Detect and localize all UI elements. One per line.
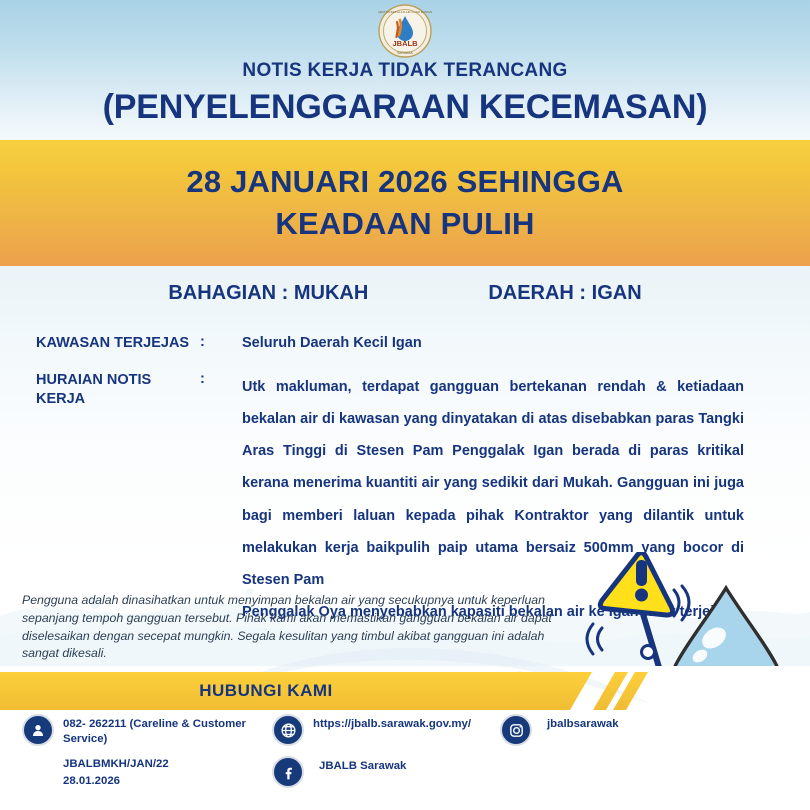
- daerah-label: DAERAH : IGAN: [488, 282, 641, 305]
- reference-block: JBALBMKH/JAN/22 28.01.2026: [63, 756, 272, 790]
- contact-group-phone: 082- 262211 (Careline & Customer Service…: [22, 714, 272, 790]
- svg-text:JBALB: JBALB: [392, 39, 418, 48]
- poster-footer: HUBUNGI KAMI 082- 262211 (Careline & Cus…: [0, 666, 810, 810]
- kawasan-label: KAWASAN TERJEJAS: [0, 334, 200, 353]
- globe-icon: [272, 714, 304, 746]
- notice-poster: JBALB JABATAN BEKALAN AIR LUAR BANDAR SA…: [0, 0, 810, 810]
- svg-text:JABATAN BEKALAN AIR LUAR BANDA: JABATAN BEKALAN AIR LUAR BANDAR: [378, 10, 432, 14]
- contact-phone-text: 082- 262211 (Careline & Customer Service…: [63, 714, 272, 746]
- huraian-colon: :: [200, 371, 242, 629]
- bahagian-label: BAHAGIAN : MUKAH: [168, 282, 368, 305]
- kawasan-value: Seluruh Daerah Kecil Igan: [242, 334, 762, 353]
- reference-code: JBALBMKH/JAN/22: [63, 756, 272, 773]
- hubungi-kami-label: HUBUNGI KAMI: [199, 681, 333, 701]
- hubungi-kami-banner: HUBUNGI KAMI: [0, 672, 592, 710]
- reference-date: 28.01.2026: [63, 773, 272, 790]
- date-line-1: 28 JANUARI 2026 SEHINGGA: [186, 161, 623, 203]
- contact-facebook-text: JBALB Sarawak: [313, 756, 406, 774]
- disclaimer-text: Pengguna adalah dinasihatkan untuk menyi…: [22, 592, 567, 663]
- contact-phone[interactable]: 082- 262211 (Careline & Customer Service…: [22, 714, 272, 746]
- contact-instagram[interactable]: jbalbsarawak: [500, 714, 720, 746]
- contact-facebook[interactable]: JBALB Sarawak: [272, 756, 502, 788]
- contact-group-instagram: jbalbsarawak: [500, 714, 720, 756]
- huraian-label: HURAIAN NOTIS KERJA: [0, 371, 200, 629]
- user-icon: [22, 714, 54, 746]
- division-row: BAHAGIAN : MUKAH DAERAH : IGAN: [0, 282, 810, 305]
- contact-instagram-text: jbalbsarawak: [541, 714, 619, 732]
- contact-group-web: https://jbalb.sarawak.gov.my/ JBALB Sara…: [272, 714, 502, 798]
- contact-website-text: https://jbalb.sarawak.gov.my/: [313, 714, 471, 732]
- date-band: 28 JANUARI 2026 SEHINGGA KEADAAN PULIH: [0, 140, 810, 266]
- instagram-icon: [500, 714, 532, 746]
- jbalb-logo: JBALB JABATAN BEKALAN AIR LUAR BANDAR SA…: [378, 4, 432, 58]
- contact-website[interactable]: https://jbalb.sarawak.gov.my/: [272, 714, 502, 746]
- notice-title: (PENYELENGGARAAN KECEMASAN): [0, 88, 810, 127]
- facebook-icon: [272, 756, 304, 788]
- date-line-2: KEADAAN PULIH: [275, 203, 534, 245]
- warning-triangle-icon: [600, 552, 678, 616]
- svg-text:SARAWAK: SARAWAK: [397, 51, 414, 55]
- kawasan-colon: :: [200, 334, 242, 353]
- poster-header: JBALB JABATAN BEKALAN AIR LUAR BANDAR SA…: [0, 0, 810, 140]
- notice-subtitle: NOTIS KERJA TIDAK TERANCANG: [0, 60, 810, 82]
- field-row-kawasan: KAWASAN TERJEJAS : Seluruh Daerah Kecil …: [0, 334, 810, 353]
